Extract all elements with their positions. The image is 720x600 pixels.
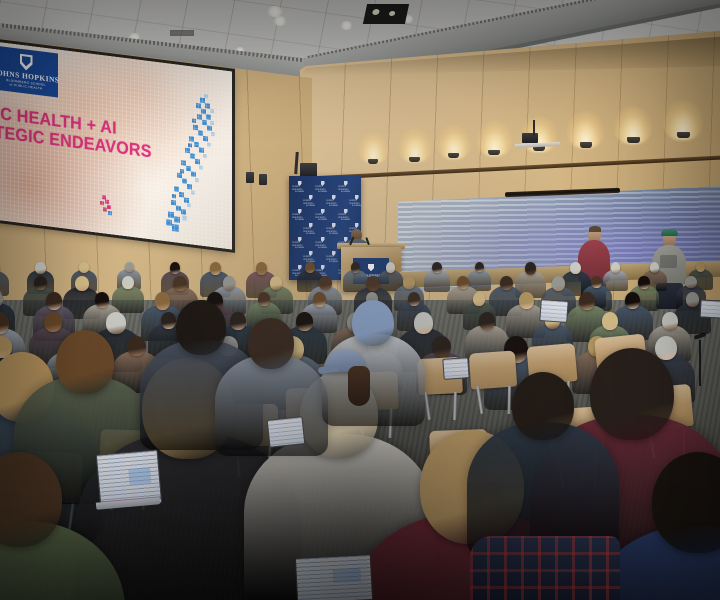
backdrop-logo: JOHNS HOPKINSBLOOMBERG xyxy=(315,209,330,221)
jhu-shield-icon xyxy=(20,54,33,72)
audience-member-head xyxy=(319,276,332,290)
laptop-screen[interactable] xyxy=(442,357,469,380)
projection-screen: JOHNS HOPKINS BLOOMBERG SCHOOL of PUBLIC… xyxy=(0,40,232,249)
audience-member-head xyxy=(305,262,315,273)
wall-sconce xyxy=(368,159,378,164)
microphone-stand xyxy=(699,340,701,386)
laptop-screen-content xyxy=(443,358,468,379)
wall-sconce xyxy=(677,132,690,138)
audience-member-head xyxy=(552,276,565,291)
audience-member-foreground-head xyxy=(56,330,114,394)
wall-sconce xyxy=(488,150,500,155)
audience-member-head xyxy=(655,336,677,360)
backdrop-logo-sub: BLOOMBERG xyxy=(318,192,327,194)
audience-member-head xyxy=(44,312,62,332)
ceiling-downlight xyxy=(266,6,284,17)
audience-member-foreground-head xyxy=(590,348,674,440)
audience-member-head xyxy=(79,262,89,273)
audience-member-head xyxy=(95,292,109,308)
audience-member-foreground-body xyxy=(322,334,425,426)
audience-member-head xyxy=(258,292,270,306)
audience-member-head xyxy=(579,292,595,310)
av-equipment xyxy=(522,133,538,143)
laptop-screen-content xyxy=(268,417,305,446)
audience-member-head xyxy=(122,276,134,289)
audience-member-head xyxy=(500,276,513,290)
audience-member-head xyxy=(686,292,699,307)
chair-leg xyxy=(507,386,510,414)
audience-member-foreground-head xyxy=(352,300,394,346)
backdrop-logo: JOHNS HOPKINSBLOOMBERG xyxy=(338,181,353,193)
backdrop-logo: JOHNS HOPKINSBLOOMBERG xyxy=(303,223,318,235)
audience-member-head xyxy=(256,262,267,275)
backdrop-logo-sub: BLOOMBERG xyxy=(329,234,338,236)
audience-member-head xyxy=(170,262,180,274)
audience-member-head xyxy=(127,336,145,356)
audience-member-head xyxy=(270,276,282,290)
audience-member-head xyxy=(625,292,640,309)
audience-member-foreground-head xyxy=(512,372,574,440)
backdrop-logo: JOHNS HOPKINSBLOOMBERG xyxy=(338,209,353,221)
audience-member-head xyxy=(638,276,649,289)
backdrop-logo-sub: BLOOMBERG xyxy=(295,248,304,250)
audience-member-head xyxy=(155,292,171,310)
audience-member-head xyxy=(296,312,313,331)
chair-highlight xyxy=(469,350,516,369)
standing-person-hair xyxy=(589,226,601,232)
backdrop-logo: JOHNS HOPKINSBLOOMBERG xyxy=(292,237,307,249)
audience-member-head xyxy=(161,312,176,329)
audience-member-head xyxy=(414,312,433,334)
audience-member-head xyxy=(611,262,620,273)
backdrop-logo-sub: BLOOMBERG xyxy=(295,192,304,194)
audience-member-head xyxy=(525,262,536,275)
audience-member-head xyxy=(210,262,221,275)
laptop-screen-content xyxy=(540,300,567,322)
laptop-highlight-block xyxy=(128,467,151,485)
audience-member-head xyxy=(650,262,659,273)
audience-member-head xyxy=(35,262,45,274)
backdrop-logo-sub: BLOOMBERG xyxy=(352,206,361,208)
backdrop-logo: JOHNS HOPKINSBLOOMBERG xyxy=(315,181,330,193)
backdrop-logo: JOHNS HOPKINSBLOOMBERG xyxy=(349,195,361,207)
audience-member-head xyxy=(602,312,618,330)
laptop-screen[interactable] xyxy=(295,554,373,600)
chair-highlight xyxy=(526,343,575,364)
audience-member-head xyxy=(230,312,246,330)
backdrop-logo-sub: BLOOMBERG xyxy=(295,220,304,222)
backdrop-logo: JOHNS HOPKINSBLOOMBERG xyxy=(326,251,341,263)
baseball-cap xyxy=(661,229,678,236)
ponytail xyxy=(348,366,370,406)
audience-member-head xyxy=(313,292,326,307)
audience-member-foreground-head xyxy=(248,318,294,369)
audience-member-head xyxy=(46,292,62,310)
wall-sconce xyxy=(580,142,592,148)
audience-member-head xyxy=(475,262,484,272)
backdrop-logo-sub: BLOOMBERG xyxy=(306,206,315,208)
audience-member-head xyxy=(432,336,451,357)
audience-member-head xyxy=(473,292,485,306)
backdrop-logo: JOHNS HOPKINSBLOOMBERG xyxy=(315,237,330,249)
ceiling-downlight xyxy=(273,16,287,26)
wall-sconce xyxy=(448,153,459,158)
plaid-shirt xyxy=(470,536,620,600)
laptop-screen[interactable] xyxy=(700,299,720,318)
backdrop-logo: JOHNS HOPKINSBLOOMBERG xyxy=(292,181,307,193)
wall-sconce xyxy=(409,157,420,162)
jhu-shield-icon xyxy=(368,264,374,272)
audience-member-head xyxy=(75,276,89,291)
backdrop-logo-sub: BLOOMBERG xyxy=(329,262,338,264)
backdrop-logo-sub: BLOOMBERG xyxy=(341,192,350,194)
audience-member-head xyxy=(662,312,678,330)
ceiling-vent xyxy=(170,30,194,36)
audience-member-head xyxy=(386,262,395,273)
wall-speaker xyxy=(246,172,254,183)
lecture-hall-photo: JOHNS HOPKINS BLOOMBERG SCHOOL of PUBLIC… xyxy=(0,0,720,600)
audience-member-head xyxy=(479,312,495,330)
laptop-screen[interactable] xyxy=(267,416,306,448)
audience-member-head xyxy=(685,276,696,288)
backdrop-logo-sub: BLOOMBERG xyxy=(329,206,338,208)
backdrop-logo-sub: BLOOMBERG xyxy=(341,220,350,222)
audience-member-head xyxy=(106,312,125,334)
audience-member-head xyxy=(351,262,361,273)
audience-member-body xyxy=(424,270,450,292)
backdrop-logo-sub: BLOOMBERG xyxy=(306,234,315,236)
audience-member-foreground-head xyxy=(176,300,226,355)
audience-member-head xyxy=(223,276,235,290)
av-mount-pole xyxy=(533,120,535,136)
av-equipment xyxy=(300,163,317,177)
audience-member-head xyxy=(125,262,134,272)
ceiling-downlight xyxy=(340,21,353,30)
backdrop-logo: JOHNS HOPKINSBLOOMBERG xyxy=(292,209,307,221)
backdrop-logo: JOHNS HOPKINSBLOOMBERG xyxy=(326,195,341,207)
auditorium-chair[interactable] xyxy=(469,350,517,389)
audience-member-head xyxy=(432,262,442,273)
backdrop-logo: JOHNS HOPKINSBLOOMBERG xyxy=(326,223,341,235)
tshirt-graphic xyxy=(660,255,677,268)
audience-member-head xyxy=(403,276,414,289)
slide-jhu-logo: JOHNS HOPKINS BLOOMBERG SCHOOL of PUBLIC… xyxy=(0,45,58,97)
laptop-screen-content xyxy=(701,300,720,317)
backdrop-logo-sub: BLOOMBERG xyxy=(318,220,327,222)
audience-member-head xyxy=(173,276,186,291)
laptop-highlight-block xyxy=(332,568,361,583)
backdrop-logo: JOHNS HOPKINSBLOOMBERG xyxy=(303,195,318,207)
wall-speaker xyxy=(259,174,267,185)
wall-sconce xyxy=(627,137,640,143)
ceiling-projector-well xyxy=(363,4,409,24)
laptop-screen[interactable] xyxy=(539,299,568,323)
backdrop-logo-sub: BLOOMBERG xyxy=(318,248,327,250)
audience-member-head xyxy=(696,262,705,272)
audience-member-head xyxy=(519,292,534,309)
